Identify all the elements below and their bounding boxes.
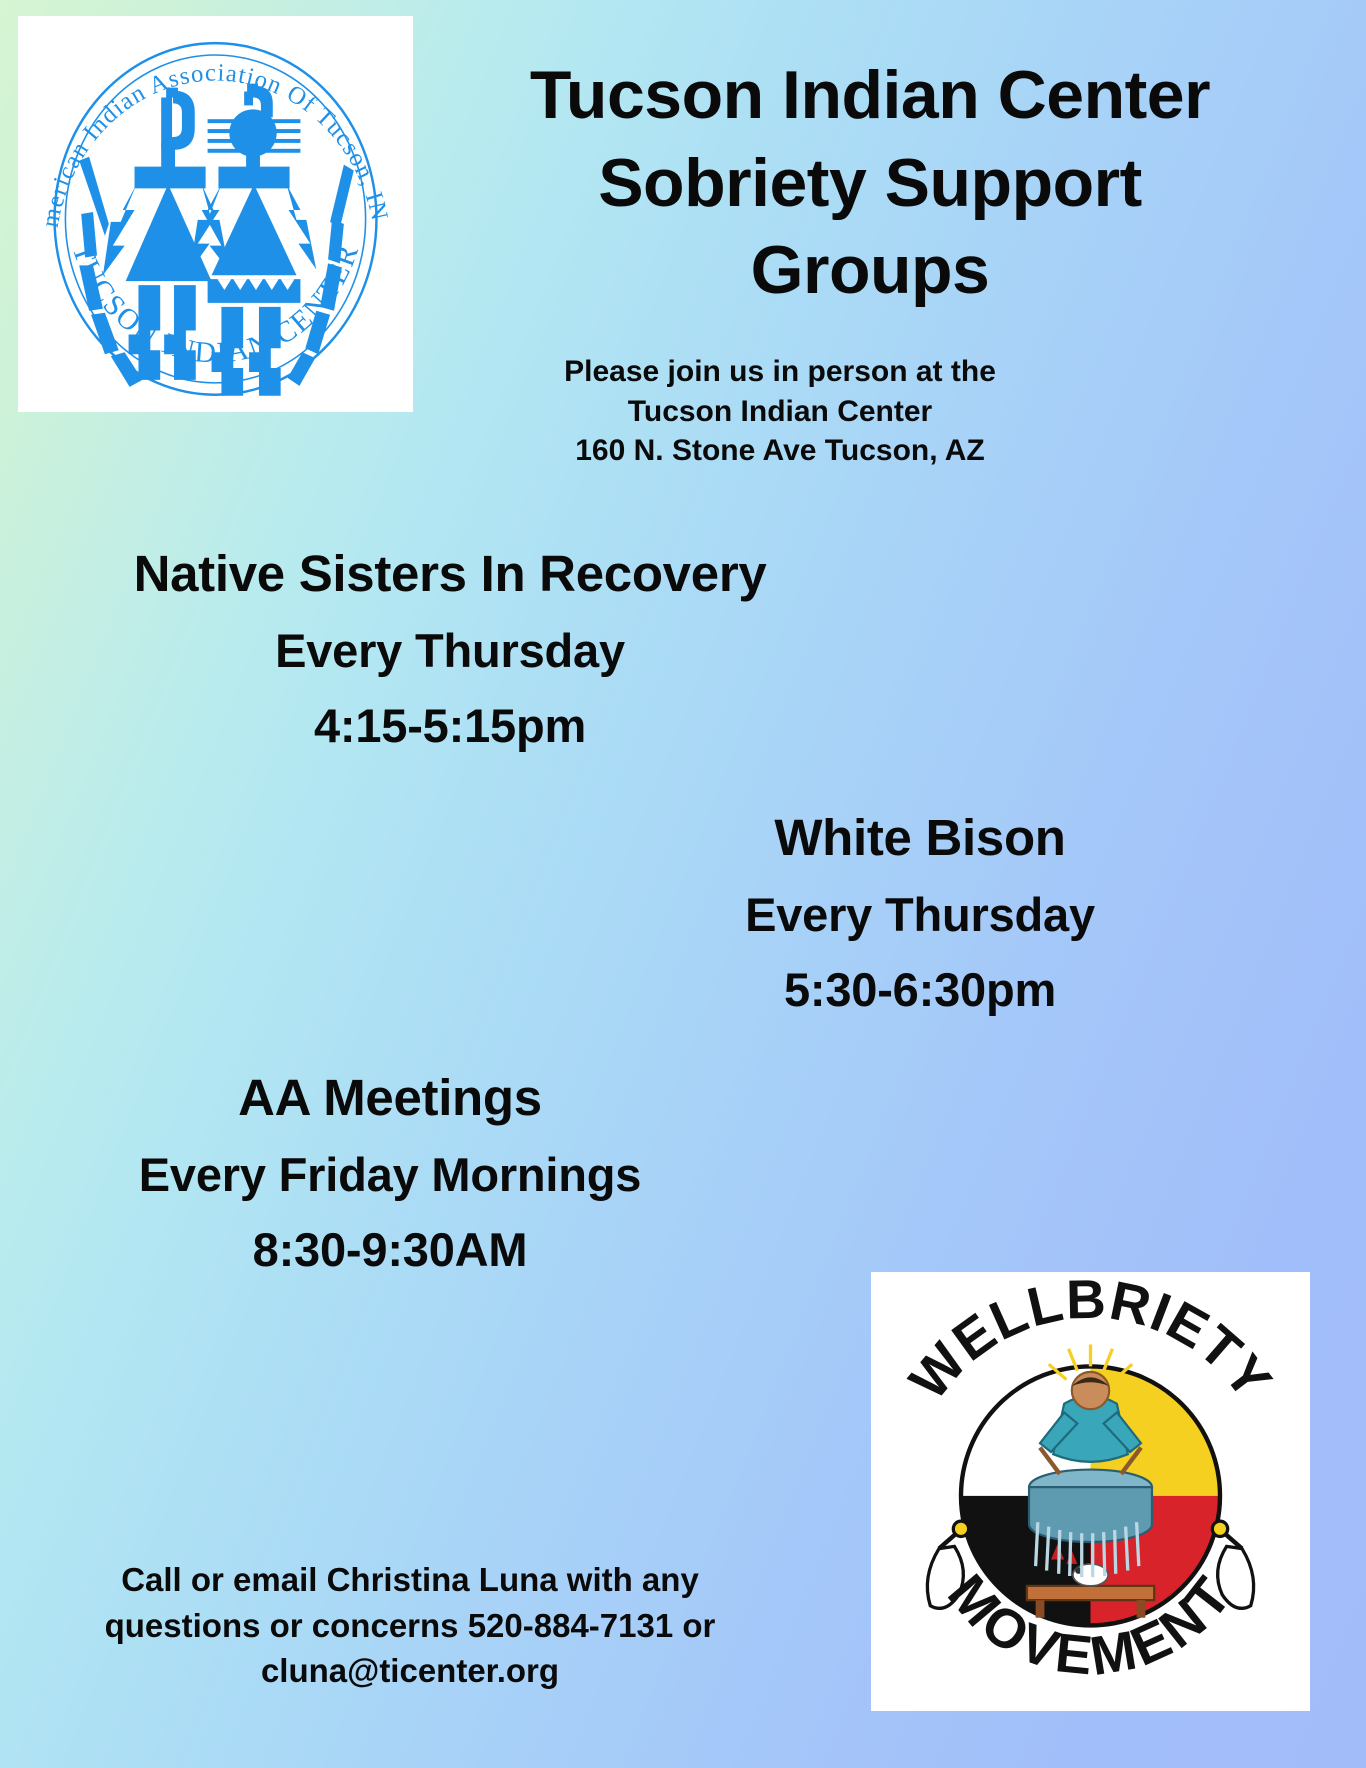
- american-indian-association-of-tucson-logo: American Indian Association Of Tucson, I…: [18, 16, 413, 412]
- location-subtitle: Please join us in person at the Tucson I…: [480, 352, 1080, 471]
- meeting-day: Every Thursday: [530, 891, 1310, 938]
- title-line-3: Groups: [420, 227, 1320, 315]
- contact-email: cluna@ticenter.org: [60, 1648, 760, 1694]
- meeting-name: Native Sisters In Recovery: [60, 548, 840, 599]
- meeting-day: Every Thursday: [60, 627, 840, 674]
- subtitle-address: 160 N. Stone Ave Tucson, AZ: [480, 431, 1080, 471]
- title-line-1: Tucson Indian Center: [420, 52, 1320, 140]
- meeting-time: 5:30-6:30pm: [530, 966, 1310, 1013]
- contact-line-1: Call or email Christina Luna with any: [60, 1557, 760, 1603]
- meeting-time: 8:30-9:30AM: [60, 1226, 720, 1273]
- subtitle-line-2: Tucson Indian Center: [480, 392, 1080, 432]
- subtitle-line-1: Please join us in person at the: [480, 352, 1080, 392]
- meeting-name: AA Meetings: [60, 1072, 720, 1123]
- meeting-block-white-bison: White Bison Every Thursday 5:30-6:30pm: [530, 812, 1310, 1013]
- flyer-page: American Indian Association Of Tucson, I…: [0, 0, 1366, 1768]
- meeting-block-aa-meetings: AA Meetings Every Friday Mornings 8:30-9…: [60, 1072, 720, 1273]
- contact-block: Call or email Christina Luna with any qu…: [60, 1557, 760, 1694]
- contact-phone-line: questions or concerns 520-884-7131 or: [60, 1603, 760, 1649]
- meeting-block-native-sisters-in-recovery: Native Sisters In Recovery Every Thursda…: [60, 548, 840, 749]
- meeting-time: 4:15-5:15pm: [60, 702, 840, 749]
- meeting-day: Every Friday Mornings: [60, 1151, 720, 1198]
- meeting-name: White Bison: [530, 812, 1310, 863]
- title-line-2: Sobriety Support: [420, 140, 1320, 228]
- wellbriety-movement-logo: WELLBRIETY MOVEMENT: [871, 1272, 1310, 1711]
- page-title: Tucson Indian Center Sobriety Support Gr…: [420, 52, 1320, 315]
